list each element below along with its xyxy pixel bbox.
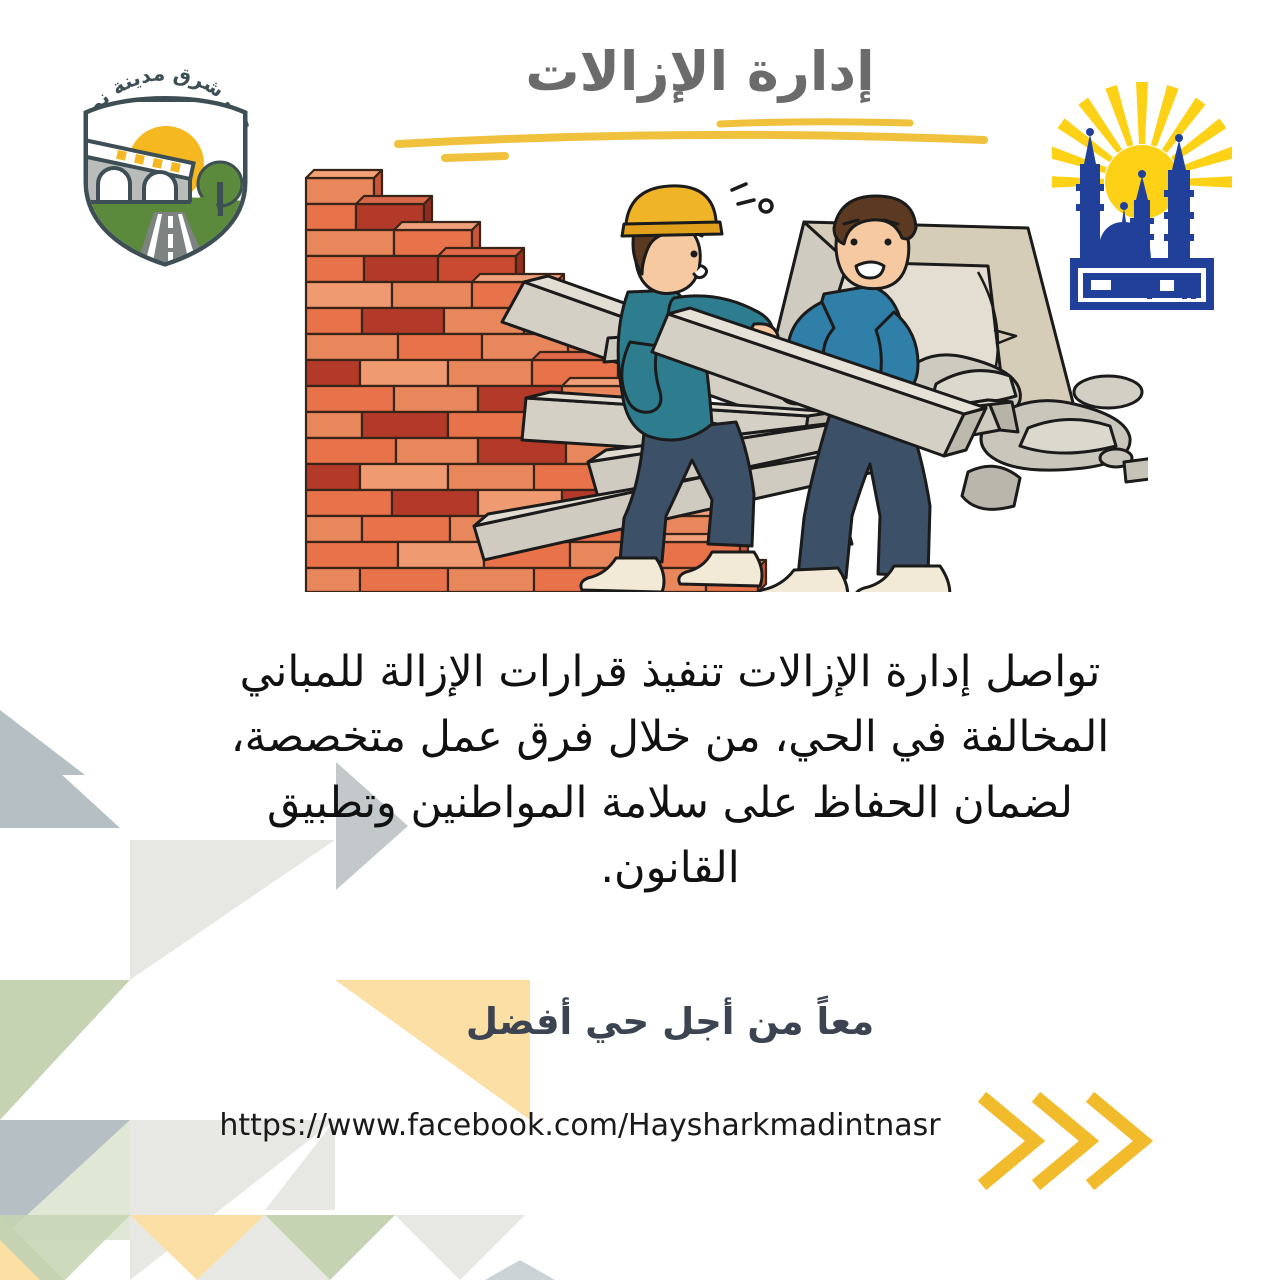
chevron-right-icon-group [975,1085,1165,1195]
title-underline-decoration [390,118,990,164]
cairo-governorate-logo [1052,72,1232,322]
hay-shark-madinat-nasr-logo: حي شرق مدينة نصر [58,52,273,267]
chevron-right-icon [1095,1101,1143,1181]
tagline-text: معاً من أجل حي أفضل [240,1000,1100,1043]
poster-header: حي شرق مدينة نصر [0,0,1280,330]
facebook-url-link[interactable]: https://www.facebook.com/Haysharkmadintn… [150,1108,1010,1143]
page-title-wrap: إدارة الإزالات [390,42,1010,101]
poster-canvas: حي شرق مدينة نصر [0,0,1280,1280]
page-title: إدارة الإزالات [390,42,1010,101]
corner-triangle-icon [0,718,120,828]
body-paragraph: تواصل إدارة الإزالات تنفيذ قرارات الإزال… [200,640,1140,901]
chevron-right-icon [987,1101,1035,1181]
chevron-right-icon [1041,1101,1089,1181]
